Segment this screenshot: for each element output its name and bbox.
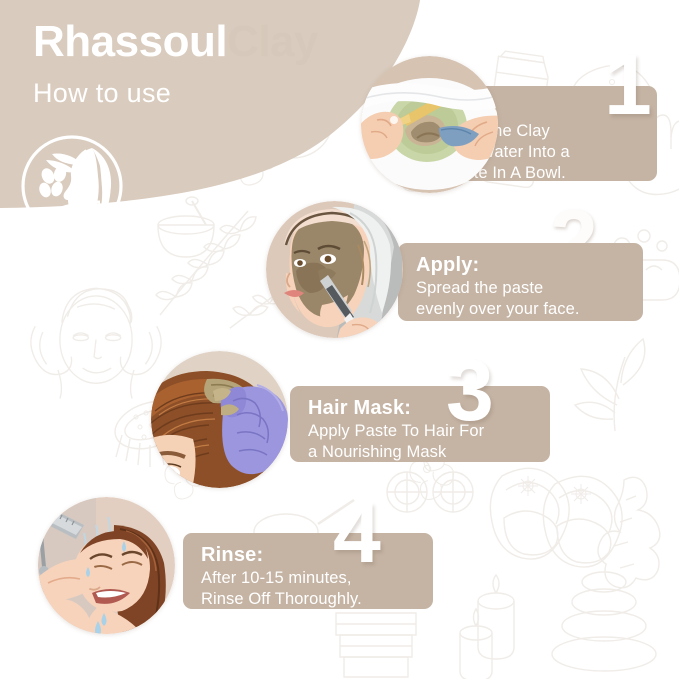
step-4-line-2: Rinse Off Thoroughly. [201, 589, 417, 610]
step-4-image [38, 497, 175, 634]
step-3-line-1: Apply Paste To Hair For [308, 421, 534, 442]
step-3-image [151, 351, 288, 488]
step-2-image [266, 201, 403, 338]
step-4-heading: Rinse: [201, 544, 417, 567]
step-2-heading: Apply: [416, 254, 627, 277]
step-2-line-1: Spread the paste [416, 278, 627, 299]
step-1-image [361, 56, 498, 193]
step-4-line-1: After 10-15 minutes, [201, 568, 417, 589]
step-2-panel: Apply: Spread the paste evenly over your… [398, 243, 643, 321]
step-4-panel: Rinse: After 10-15 minutes, Rinse Off Th… [183, 533, 433, 609]
step-3-line-2: a Nourishing Mask [308, 442, 534, 463]
step-2-line-2: evenly over your face. [416, 299, 627, 320]
step-3-heading: Hair Mask: [308, 397, 534, 420]
step-3-panel: Hair Mask: Apply Paste To Hair For a Nou… [290, 386, 550, 462]
brand-logo-icon [18, 132, 126, 240]
